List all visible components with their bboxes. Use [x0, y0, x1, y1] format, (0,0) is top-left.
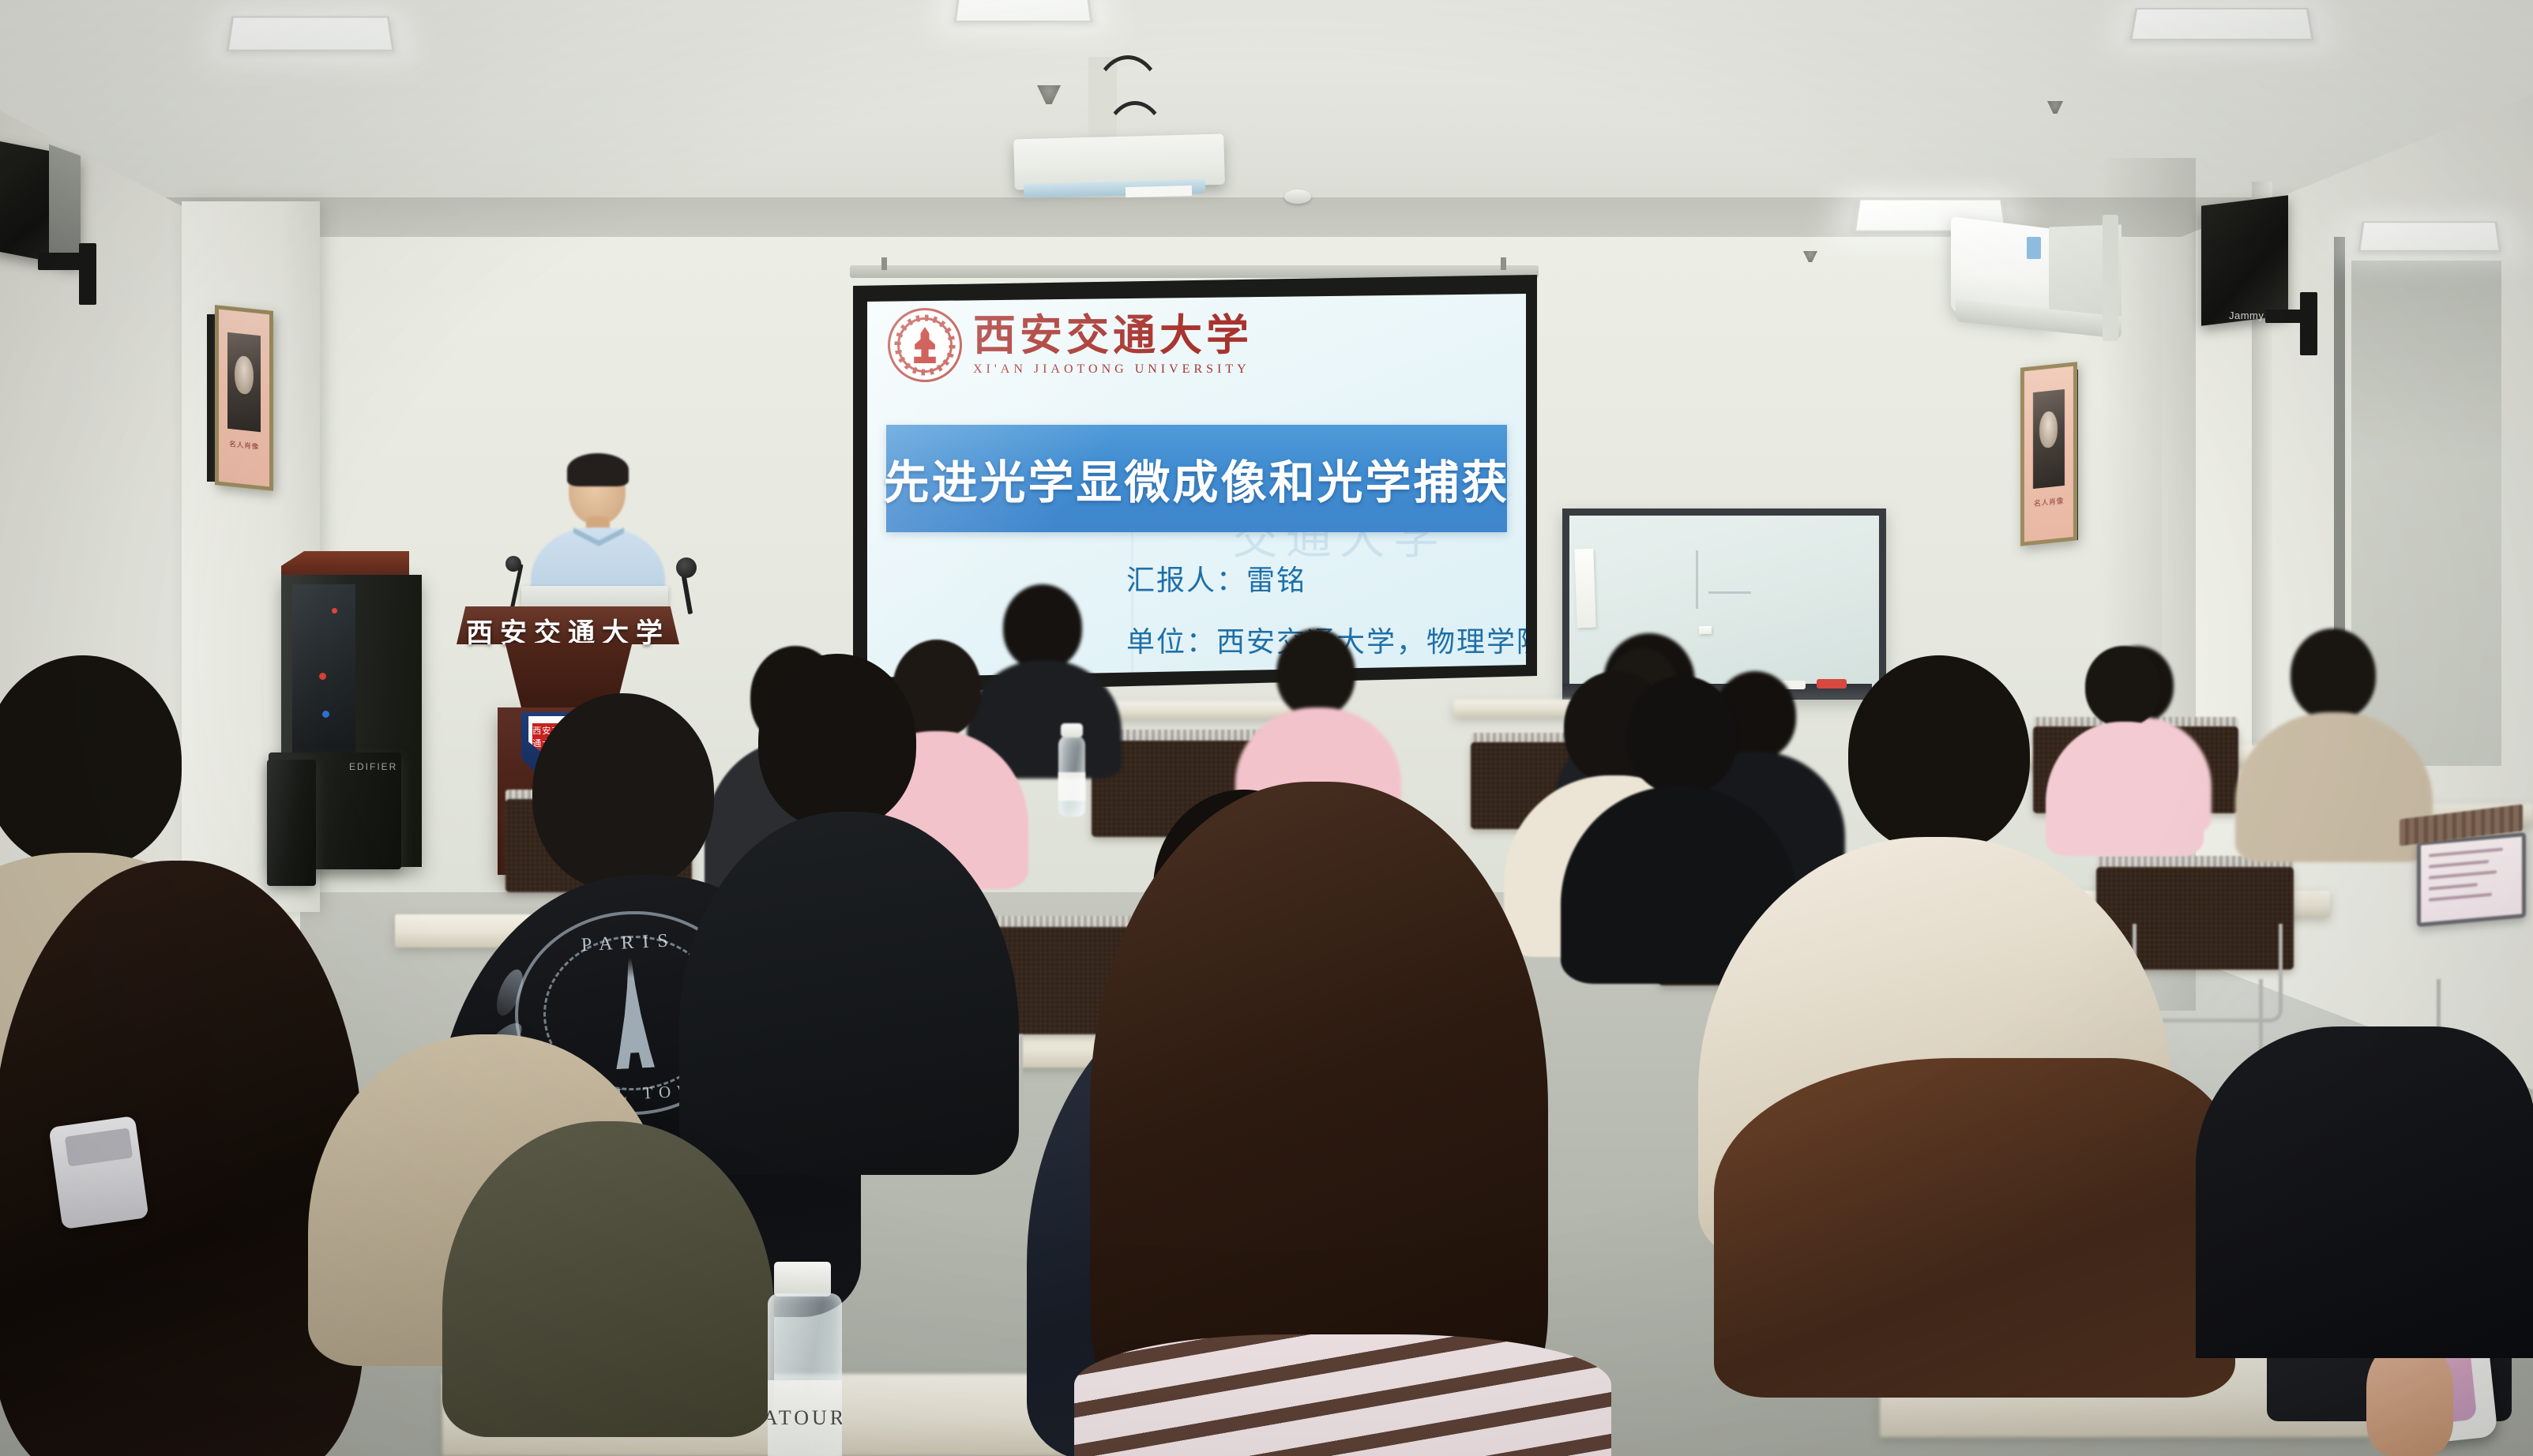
- whiteboard-paper-note: [1699, 626, 1712, 635]
- hand-holding-phone: [2366, 1342, 2453, 1456]
- slide-logo: 西安交通大学 XI'AN JIAOTONG UNIVERSITY: [888, 308, 1253, 382]
- left-portrait: 名人肖像: [215, 305, 273, 491]
- av-rack-led: [332, 608, 337, 614]
- water-bottle-cap: [1061, 723, 1083, 737]
- right-portrait: 名人肖像: [2020, 362, 2077, 546]
- air-conditioner-pipe: [2103, 215, 2118, 341]
- right-portrait-caption: 名人肖像: [2024, 494, 2073, 510]
- lecture-hall-photo: Jammy 名人肖像 名人肖像 交通大学: [0, 0, 2533, 1456]
- smoke-detector-icon: [1284, 190, 1311, 204]
- av-rack-speaker-side: [267, 760, 316, 886]
- striped-shirt: [1074, 1334, 1611, 1456]
- whiteboard-marks: [1708, 591, 1751, 594]
- wall-speaker-left-bracket: [79, 243, 96, 305]
- microphone-head-icon: [676, 557, 697, 578]
- presenter-hair: [567, 453, 629, 486]
- slide-logo-cn: 西安交通大学: [973, 314, 1253, 357]
- left-portrait-caption: 名人肖像: [219, 437, 269, 453]
- left-portrait-photo: [227, 332, 261, 432]
- whiteboard-paper-note: [1574, 549, 1595, 629]
- slide-meta-presenter: 汇报人：雷铭: [1126, 557, 1526, 599]
- whiteboard-marker: [1817, 679, 1847, 689]
- screen-hanger: [1501, 257, 1506, 270]
- ceiling-light-panel: [954, 0, 1093, 22]
- av-rack-led: [322, 711, 329, 718]
- atour-bottle-cap: [774, 1262, 831, 1297]
- slide-title-text: 先进光学显微成像和光学捕获: [884, 445, 1510, 512]
- wall-speaker-right: [2201, 195, 2288, 326]
- ceiling-light-panel: [226, 16, 394, 51]
- av-rack-led: [319, 673, 326, 680]
- right-portrait-photo: [2033, 389, 2065, 489]
- dark-jacket: [2196, 1026, 2533, 1358]
- wall-speaker-right-brand: Jammy: [2229, 310, 2264, 321]
- screen-housing: [850, 265, 1539, 278]
- wall-speaker-left-side: [49, 144, 81, 268]
- screen-hanger: [881, 257, 887, 270]
- microphone-head-icon: [505, 556, 521, 572]
- brown-coat: [1714, 1058, 2235, 1398]
- air-conditioner-badge: [2027, 237, 2041, 259]
- university-seal-icon: [888, 308, 962, 382]
- ceiling-light-panel: [2358, 221, 2501, 251]
- wall-speaker-right-bracket: [2300, 292, 2317, 355]
- projector-foot: [1126, 186, 1192, 197]
- slide-title-bar: 先进光学显微成像和光学捕获: [886, 425, 1507, 532]
- av-rack-speaker-brand: EDIFIER: [349, 761, 397, 772]
- slide-logo-en: XI'AN JIAOTONG UNIVERSITY: [973, 362, 1253, 377]
- slide-content: 交通大学 西安交通大学 XI'AN JIAOTONG UNIVERSITY 先进…: [867, 294, 1526, 677]
- atour-bottle-label: ATOUR: [768, 1380, 842, 1456]
- water-bottle-label: [1058, 772, 1085, 801]
- ceiling-light-panel: [2129, 8, 2313, 40]
- whiteboard-marks: [1696, 550, 1698, 609]
- loose-cable: [261, 624, 281, 774]
